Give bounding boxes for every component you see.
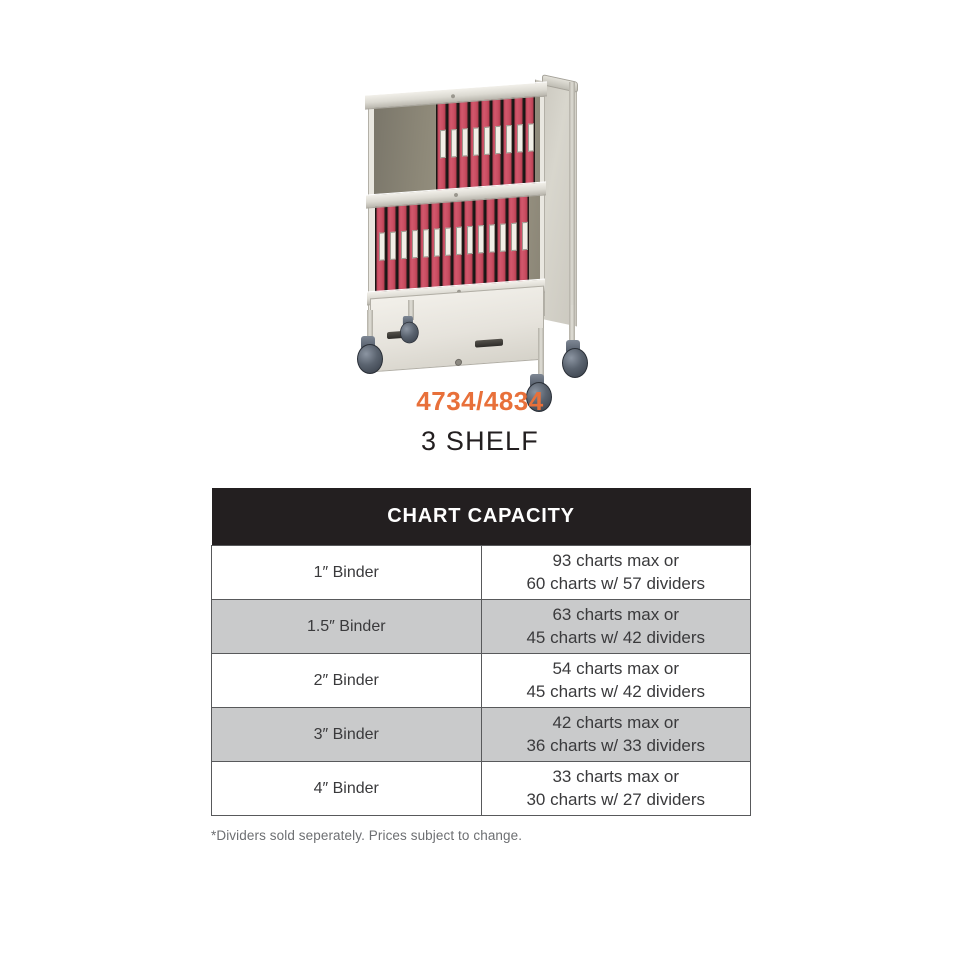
- middle-shelf-binders: [375, 194, 529, 293]
- caster-wheel: [562, 348, 588, 378]
- binder: [463, 198, 474, 287]
- binder-size-cell: 3″ Binder: [212, 708, 482, 762]
- product-model-number: 4734/4834: [0, 386, 960, 417]
- rail-fastener: [451, 94, 455, 98]
- binder: [518, 194, 529, 283]
- caster-wheel: [400, 322, 419, 344]
- binder: [458, 99, 469, 190]
- binder: [430, 200, 441, 289]
- cart-middle-shelf: [375, 193, 540, 293]
- binder: [408, 202, 419, 291]
- binder-size-cell: 2″ Binder: [212, 654, 482, 708]
- cabinet-lock-icon: [455, 359, 462, 367]
- chart-rack-cart-illustration: [330, 60, 610, 380]
- capacity-cell: 63 charts max or 45 charts w/ 42 divider…: [481, 600, 751, 654]
- cart-leg-back-right: [569, 305, 575, 345]
- binder: [469, 98, 480, 189]
- caster-wheel: [357, 344, 383, 374]
- cart-leg-front-right: [538, 328, 544, 380]
- capacity-cell: 93 charts max or 60 charts w/ 57 divider…: [481, 546, 751, 600]
- binder: [474, 197, 485, 286]
- table-header-title: CHART CAPACITY: [212, 488, 751, 546]
- binder-size-cell: 1.5″ Binder: [212, 600, 482, 654]
- table-footnote: *Dividers sold seperately. Prices subjec…: [211, 828, 522, 843]
- binder: [436, 101, 447, 192]
- binder: [491, 97, 502, 188]
- capacity-line-2: 60 charts w/ 57 dividers: [486, 573, 747, 596]
- cart-bottom-cabinet: [370, 286, 544, 373]
- binder: [496, 195, 507, 284]
- product-image: [330, 60, 610, 380]
- capacity-line-2: 36 charts w/ 33 dividers: [486, 735, 747, 758]
- capacity-cell: 54 charts max or 45 charts w/ 42 divider…: [481, 654, 751, 708]
- capacity-line-2: 30 charts w/ 27 dividers: [486, 789, 747, 812]
- capacity-line-1: 42 charts max or: [486, 712, 747, 735]
- binder: [524, 94, 535, 185]
- capacity-cell: 33 charts max or 30 charts w/ 27 divider…: [481, 762, 751, 816]
- table-body: 1″ Binder 93 charts max or 60 charts w/ …: [212, 546, 751, 816]
- table-row: 4″ Binder 33 charts max or 30 charts w/ …: [212, 762, 751, 816]
- binder-size-cell: 4″ Binder: [212, 762, 482, 816]
- table-row: 1.5″ Binder 63 charts max or 45 charts w…: [212, 600, 751, 654]
- capacity-line-1: 93 charts max or: [486, 550, 747, 573]
- capacity-line-1: 63 charts max or: [486, 604, 747, 627]
- binder: [485, 196, 496, 285]
- table-head: CHART CAPACITY: [212, 488, 751, 546]
- table-header-row: CHART CAPACITY: [212, 488, 751, 546]
- capacity-line-1: 54 charts max or: [486, 658, 747, 681]
- binder-size-cell: 1″ Binder: [212, 546, 482, 600]
- chart-capacity-table: CHART CAPACITY 1″ Binder 93 charts max o…: [211, 488, 751, 816]
- binder: [513, 95, 524, 186]
- binder: [397, 203, 408, 292]
- rail-fastener: [454, 193, 458, 197]
- table-row: 1″ Binder 93 charts max or 60 charts w/ …: [212, 546, 751, 600]
- binder: [507, 195, 518, 284]
- capacity-line-2: 45 charts w/ 42 dividers: [486, 681, 747, 704]
- binder: [375, 204, 386, 293]
- binder: [419, 201, 430, 290]
- cart-rear-post: [569, 82, 575, 322]
- capacity-line-2: 45 charts w/ 42 dividers: [486, 627, 747, 650]
- cabinet-handle-lower: [475, 339, 503, 348]
- capacity-cell: 42 charts max or 36 charts w/ 33 divider…: [481, 708, 751, 762]
- binder: [386, 203, 397, 292]
- product-spec-page: 4734/4834 3 SHELF CHART CAPACITY 1″ Bind…: [0, 0, 960, 960]
- binder: [441, 199, 452, 288]
- binder: [452, 199, 463, 288]
- product-shelf-title: 3 SHELF: [0, 426, 960, 457]
- cart-top-shelf: [374, 94, 540, 196]
- binder: [447, 100, 458, 191]
- capacity-line-1: 33 charts max or: [486, 766, 747, 789]
- top-shelf-binders: [436, 94, 535, 191]
- binder: [480, 98, 491, 189]
- table-row: 2″ Binder 54 charts max or 45 charts w/ …: [212, 654, 751, 708]
- binder: [502, 96, 513, 187]
- table-row: 3″ Binder 42 charts max or 36 charts w/ …: [212, 708, 751, 762]
